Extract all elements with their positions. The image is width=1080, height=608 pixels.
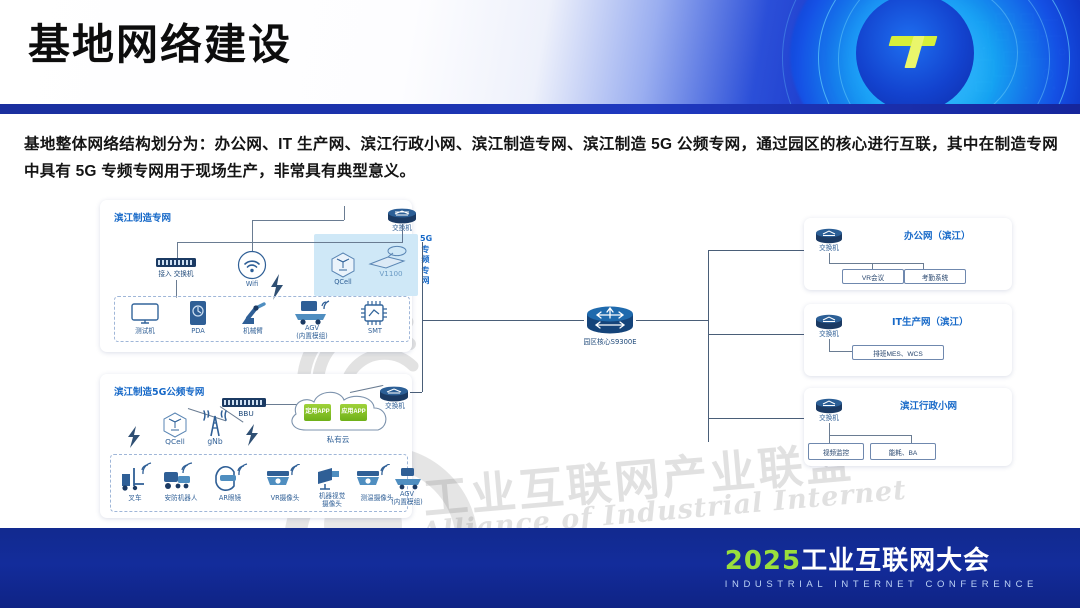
security-robot-icon: [158, 462, 196, 497]
conference-name-cn: 工业互联网大会: [801, 546, 990, 576]
label-device-pda: PDA: [178, 327, 218, 335]
line-right-trunk: [708, 250, 709, 442]
lightning-mid-icon: [244, 424, 260, 451]
panel-title-office-net: 办公网（滨江）: [904, 228, 971, 242]
office-item-2[interactable]: 考勤系统: [904, 269, 966, 284]
conference-year: 2025: [725, 546, 801, 576]
label-5g-vr-camera: VR摄像头: [258, 494, 312, 502]
bbu-switch-icon: [222, 398, 266, 407]
label-5g-agv-sub: (内置模组): [384, 498, 430, 506]
it-item-1-label: 排班MES、WCS: [873, 348, 922, 358]
panel-title-5g-public: 滨江制造5G公频专网: [114, 384, 204, 398]
app-button-2[interactable]: 应用APP: [340, 404, 367, 421]
label-qcell-manufacturing: QCell: [324, 278, 362, 286]
conference-logo: 2025工业互联网大会 INDUSTRIAL INTERNET CONFEREN…: [725, 546, 1038, 590]
network-diagram: 工业互联网产业联盟 Alliance of Industrial Interne…: [92, 196, 1052, 526]
office-item-1[interactable]: VR会议: [842, 269, 904, 284]
vr-camera-icon: [264, 464, 300, 497]
label-access-switch: 接入 交换机: [138, 270, 214, 278]
header-accent-bar: [0, 104, 1080, 114]
forklift-icon: [118, 462, 152, 497]
ar-glasses-icon: [212, 462, 248, 497]
access-switch-icon: [156, 258, 196, 267]
label-gnb: gNb: [198, 438, 232, 446]
private-cloud-icon: [284, 388, 394, 441]
body-paragraph: 基地整体网络结构划分为：办公网、IT 生产网、滨江行政小网、滨江制造专网、滨江制…: [24, 131, 1058, 185]
line-to-it-net: [708, 334, 804, 335]
line-admin-b2: [911, 435, 912, 443]
line-to-admin-net: [708, 418, 804, 419]
conference-logo-main: 2025工业互联网大会: [725, 546, 1038, 576]
admin-item-2[interactable]: 能耗、BA: [870, 443, 936, 460]
page-title: 基地网络建设: [28, 24, 292, 66]
admin-item-1-label: 视频监控: [823, 447, 849, 457]
it-item-1[interactable]: 排班MES、WCS: [852, 345, 944, 360]
line-office-bus: [829, 263, 923, 264]
label-private-cloud: 私有云: [310, 436, 366, 444]
label-qcell-5g: QCell: [156, 438, 194, 446]
label-device-smt: SMT: [354, 327, 396, 335]
label-5g-agv: AGV: [390, 490, 424, 498]
line-admin-switch-down: [829, 423, 830, 443]
label-core-router: 园区核心S9300E: [578, 338, 642, 346]
label-switch-it: 交换机: [808, 330, 850, 338]
line-admin-bus: [829, 435, 911, 436]
admin-item-1[interactable]: 视频监控: [808, 443, 864, 460]
slide-root: 基地网络建设 基地整体网络结构划分为：办公网、IT 生产网、滨江行政小网、滨江制…: [0, 0, 1080, 608]
line-it-switch-down: [829, 339, 830, 351]
line-switch-to-bus: [402, 224, 403, 242]
label-5g-ar-glasses: AR眼镜: [204, 494, 256, 502]
bus-line-manufacturing: [177, 242, 403, 243]
line-office-switch-down: [829, 253, 830, 263]
line-core-right: [636, 320, 708, 321]
label-device-agv-sub: (内置模组): [284, 332, 340, 340]
label-v1100: V1100: [374, 270, 408, 278]
core-router-icon: [584, 304, 636, 341]
line-manufacturing-to-core: [422, 320, 584, 321]
office-item-1-label: VR会议: [862, 272, 884, 282]
app-button-1[interactable]: 定用APP: [304, 404, 331, 421]
line-5g-vertical: [422, 320, 423, 392]
app-button-2-label: 应用APP: [341, 409, 365, 416]
label-device-robot-arm: 机械臂: [230, 327, 276, 335]
panel-title-manufacturing: 滨江制造专网: [114, 210, 171, 224]
conference-name-en: INDUSTRIAL INTERNET CONFERENCE: [725, 579, 1038, 590]
label-device-monitor: 测试机: [120, 327, 170, 335]
line-to-office-net: [708, 250, 804, 251]
line-5g-to-core-stub: [410, 392, 422, 393]
line-top-uplink: [344, 206, 345, 220]
panel-title-admin-net: 滨江行政小网: [900, 398, 957, 412]
lightning-left-icon: [126, 426, 142, 453]
t-logo-icon: [890, 30, 938, 72]
app-button-1-label: 定用APP: [305, 409, 329, 416]
label-switch-office: 交换机: [808, 244, 850, 252]
label-switch-admin: 交换机: [808, 414, 850, 422]
thermal-camera-icon: [354, 464, 390, 497]
label-device-agv: AGV: [290, 324, 334, 332]
panel-title-it-net: IT生产网（滨江）: [892, 314, 969, 328]
label-5g-security-robot: 安防机器人: [150, 494, 212, 502]
office-item-2-label: 考勤系统: [922, 272, 948, 282]
label-wifi: Wifi: [234, 280, 270, 288]
line-manufacturing-vertical: [422, 242, 423, 320]
line-top-branch: [252, 220, 344, 221]
admin-item-2-label: 能耗、BA: [889, 447, 918, 457]
watermark-cn: 工业互联网产业联盟: [420, 425, 856, 527]
